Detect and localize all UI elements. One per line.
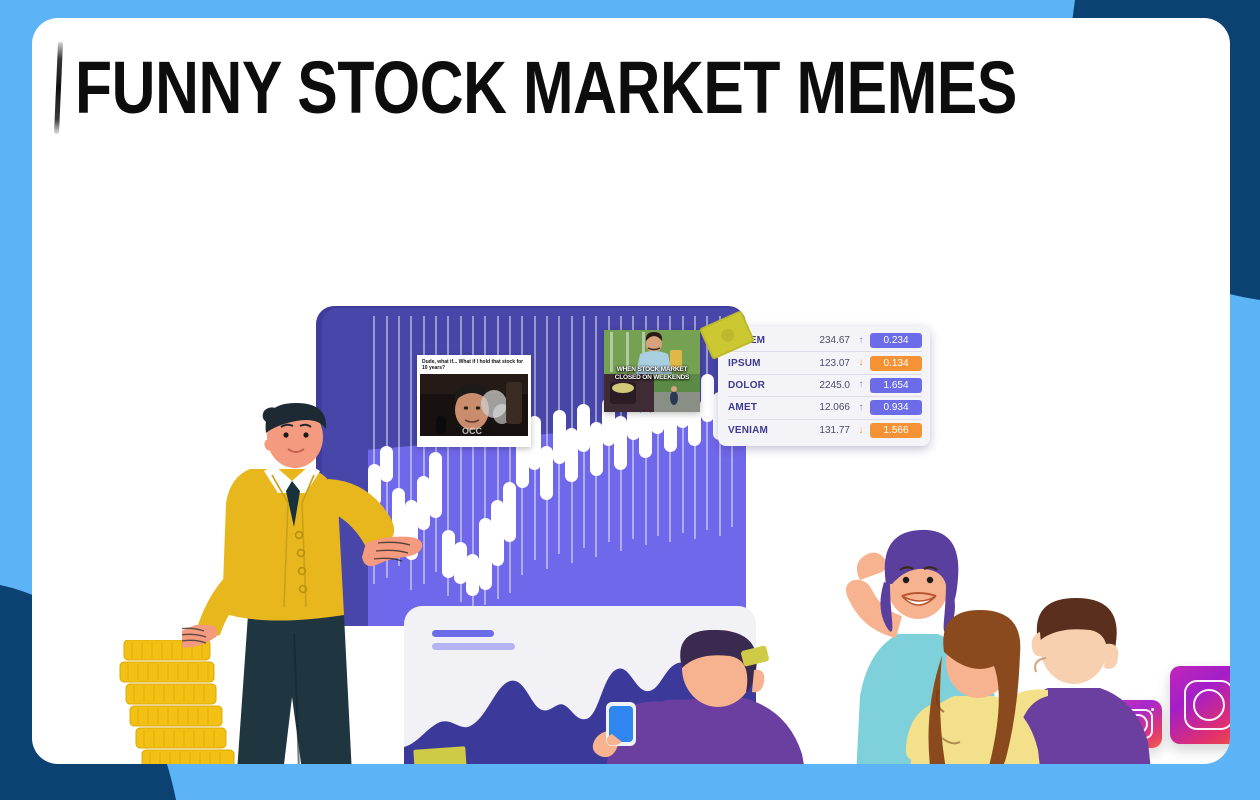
ticker-price: 131.77 (796, 425, 852, 436)
ticker-row[interactable]: VENIAM131.77↓1.566 (728, 420, 922, 442)
ticker-change-badge: 1.566 (870, 423, 922, 438)
candle-body (553, 410, 566, 464)
ticker-symbol: VENIAM (728, 425, 792, 436)
ticker-price: 12.066 (796, 402, 852, 413)
ticker-change-badge: 0.134 (870, 356, 922, 371)
candle-body (614, 416, 627, 470)
candle-body (466, 554, 479, 596)
placeholder-bar-secondary (432, 643, 515, 650)
candle-body (701, 374, 714, 422)
candle-body (454, 542, 467, 584)
character-man-with-phone (592, 630, 822, 764)
meme-caption: Dude, what if... What if I hold that sto… (420, 358, 528, 374)
svg-text:OCC: OCC (462, 426, 483, 436)
stock-ticker-panel[interactable]: LOREM234.67↑0.234IPSUM123.07↓0.134DOLOR2… (718, 326, 930, 446)
ticker-up-arrow-icon: ↑ (856, 380, 866, 390)
page-title: FUNNY STOCK MARKET MEMES (75, 53, 1017, 123)
candle-body (503, 482, 516, 542)
candle-wick (546, 316, 548, 569)
ticker-down-arrow-icon: ↓ (856, 358, 866, 368)
poster-frame: FUNNY STOCK MARKET MEMES Dude, what if..… (0, 0, 1260, 800)
ticker-symbol: DOLOR (728, 380, 792, 391)
meme-caption: WHEN STOCK MARKET CLOSED ON WEEKENDS (604, 366, 700, 382)
ticker-price: 123.07 (796, 358, 852, 369)
ticker-change-badge: 0.934 (870, 400, 922, 415)
candle-body (491, 500, 504, 566)
ticker-price: 2245.0 (796, 380, 852, 391)
character-woman-long-hair (898, 610, 1074, 764)
ticker-change-badge: 0.234 (870, 333, 922, 348)
candle-body (479, 518, 492, 590)
ticker-row[interactable]: LOREM234.67↑0.234 (728, 330, 922, 352)
meme-card-weekend[interactable]: WHEN STOCK MARKET CLOSED ON WEEKENDS (604, 330, 700, 412)
ticker-up-arrow-icon: ↑ (856, 403, 866, 413)
ticker-symbol: IPSUM (728, 358, 792, 369)
instagram-icon-large[interactable] (1170, 666, 1230, 744)
candle-body (565, 428, 578, 482)
candle-body (540, 446, 553, 500)
page-title-block: FUNNY STOCK MARKET MEMES (56, 42, 1224, 134)
candle-body (590, 422, 603, 476)
ticker-row[interactable]: DOLOR2245.0↑1.654 (728, 375, 922, 397)
candle-body (442, 530, 455, 578)
ticker-row[interactable]: IPSUM123.07↓0.134 (728, 352, 922, 374)
ticker-row[interactable]: AMET12.066↑0.934 (728, 397, 922, 419)
poster-card: FUNNY STOCK MARKET MEMES Dude, what if..… (32, 18, 1230, 764)
candle-body (577, 404, 590, 452)
character-businessman (182, 403, 442, 764)
title-brush-mark (54, 42, 63, 134)
ticker-up-arrow-icon: ↑ (856, 336, 866, 346)
candle-body (639, 410, 652, 458)
ticker-down-arrow-icon: ↓ (856, 426, 866, 436)
ticker-symbol: AMET (728, 402, 792, 413)
ticker-price: 234.67 (796, 335, 852, 346)
ticker-change-badge: 1.654 (870, 378, 922, 393)
